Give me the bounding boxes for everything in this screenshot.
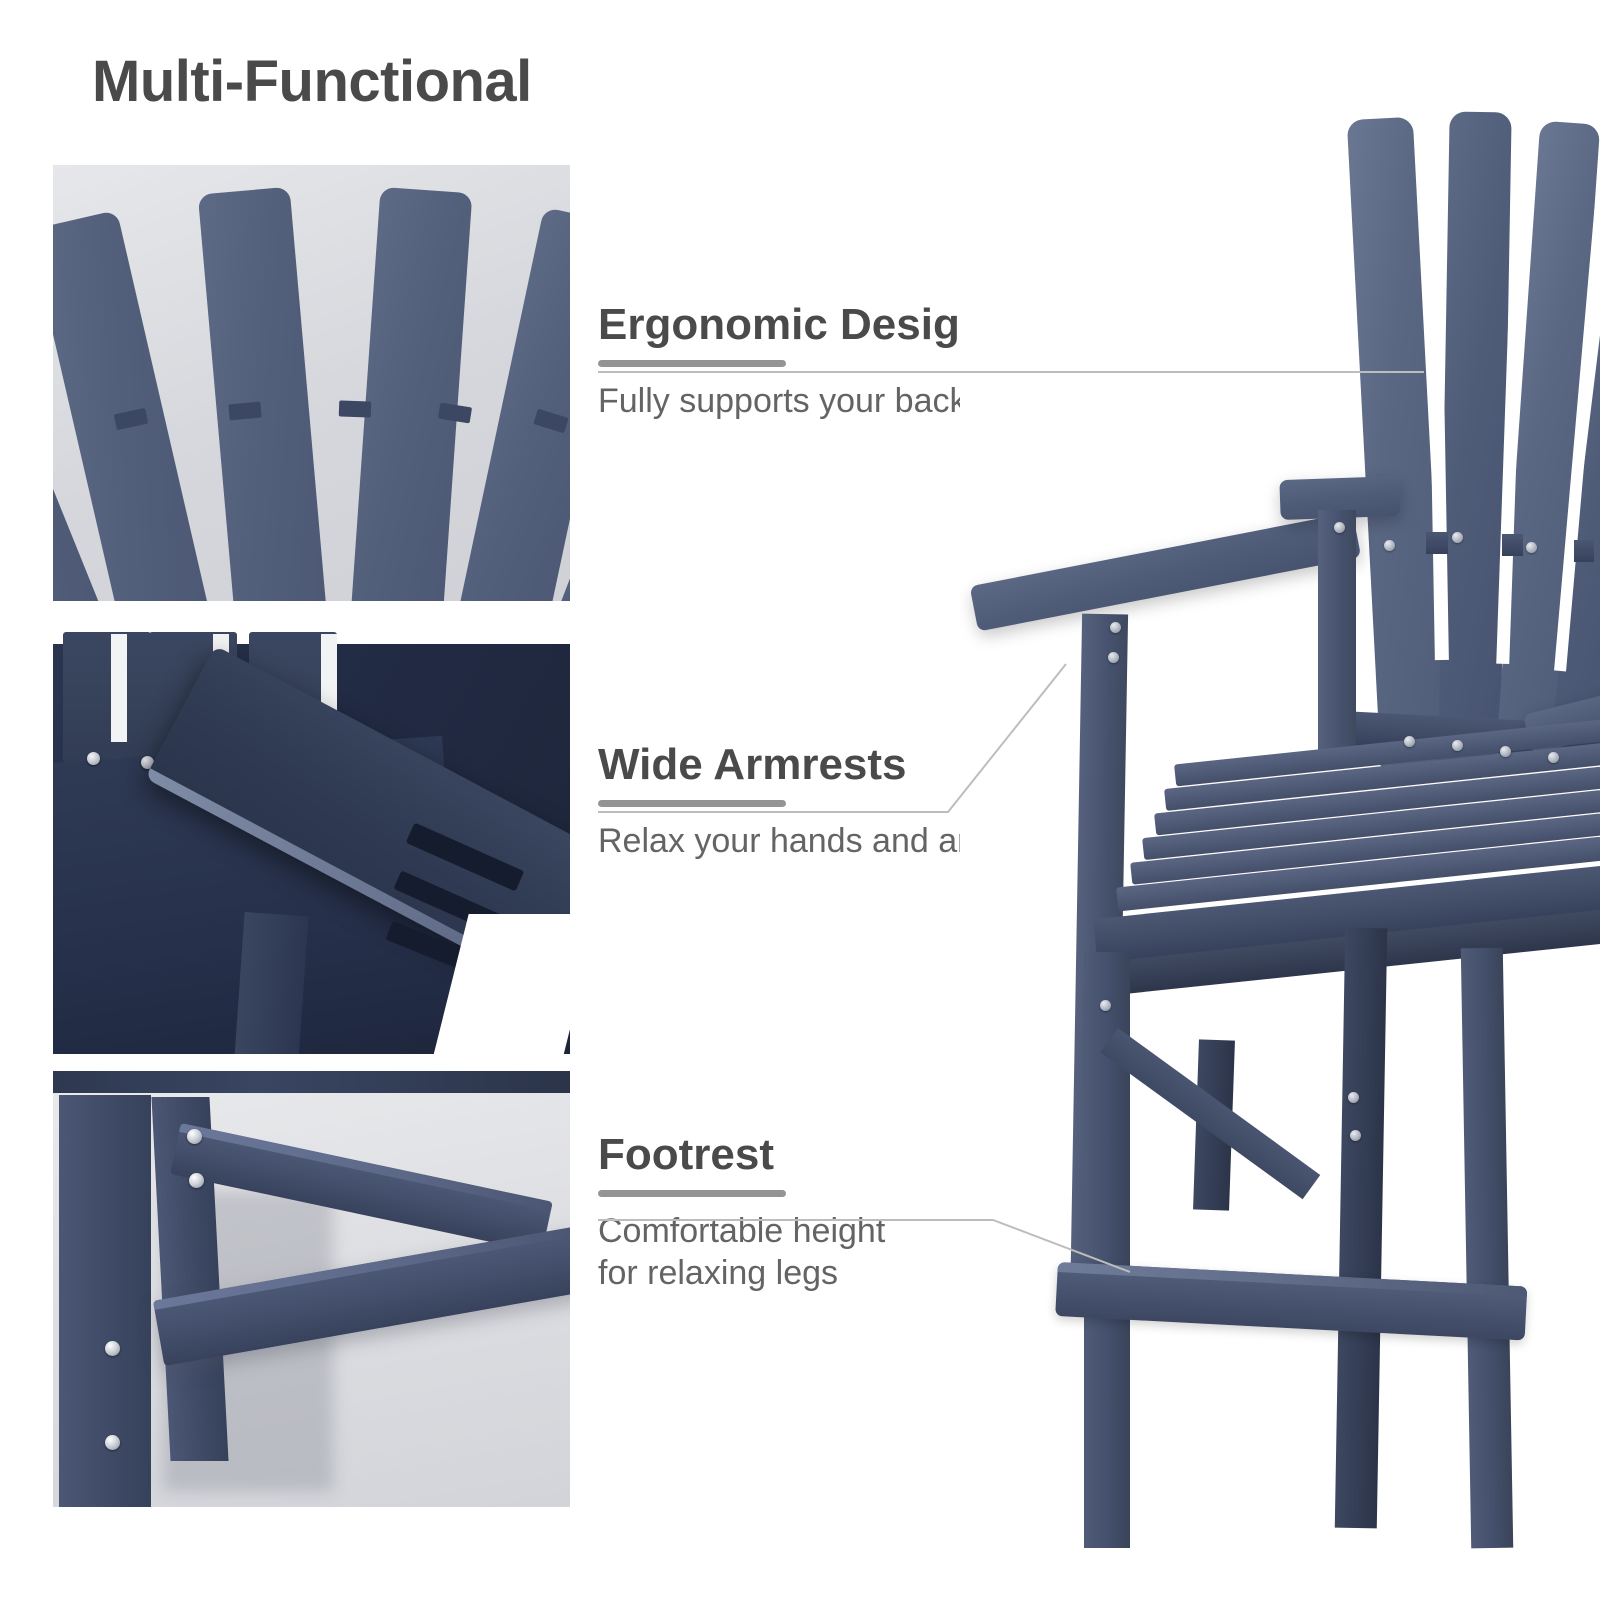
screw-head <box>105 1341 120 1356</box>
feature-block-armrests: Wide Armrests Relax your hands and arms <box>598 742 1014 863</box>
screw-head <box>1452 532 1463 543</box>
page-title: Multi-Functional <box>92 48 532 115</box>
screw-head <box>187 1129 202 1144</box>
screw-head <box>1384 540 1395 551</box>
armrest-image <box>53 618 570 1054</box>
screw-head <box>1108 652 1119 663</box>
feature-subtitle: Fully supports your back <box>598 381 987 422</box>
screw-head <box>1452 740 1463 751</box>
screw-head <box>1350 1130 1361 1141</box>
feature-block-ergonomic: Ergonomic Design Fully supports your bac… <box>598 302 987 423</box>
backrest-slat <box>63 632 151 762</box>
screw-head <box>1334 522 1345 533</box>
backrest-slat <box>1438 112 1511 763</box>
feature-block-footrest: Footrest Comfortable height for relaxing… <box>598 1132 885 1294</box>
screw-head <box>1548 752 1559 763</box>
feature-title: Footrest <box>598 1132 885 1178</box>
thumbnail-fan-backrest[interactable] <box>53 165 570 601</box>
backrest-cross-rail <box>1502 534 1523 556</box>
chair-leg-rear-left <box>1335 928 1387 1529</box>
screw-head <box>1348 1092 1359 1103</box>
feature-subtitle: Relax your hands and arms <box>598 821 1014 862</box>
backrest-cross-rail <box>1426 532 1448 554</box>
screw-head <box>1526 542 1537 553</box>
slat-gap <box>111 634 127 742</box>
thumbnail-footrest[interactable] <box>53 1071 570 1507</box>
photo-top-strip <box>53 1071 570 1093</box>
screw-head <box>105 1435 120 1450</box>
screw-head <box>189 1173 204 1188</box>
backrest-cross-rail <box>339 400 372 417</box>
armrest-rear-post <box>1318 510 1356 760</box>
thumbnail-armrest[interactable] <box>53 618 570 1054</box>
screw-head <box>1404 736 1415 747</box>
infographic-page: Multi-Functional <box>0 0 1600 1600</box>
screw-head <box>87 752 100 765</box>
screw-head <box>1110 622 1121 633</box>
feature-underline-rule <box>598 1190 786 1197</box>
feature-underline-rule <box>598 800 786 807</box>
feature-underline-rule <box>598 360 786 367</box>
armrest-support-post <box>233 912 308 1054</box>
fan-backrest-image <box>53 165 570 601</box>
chair-leg-front-right <box>1461 948 1513 1549</box>
feature-title: Wide Armrests <box>598 742 1014 788</box>
footrest-rail-highlight <box>1057 1262 1527 1297</box>
product-photo-main <box>960 0 1600 1600</box>
feature-subtitle: Comfortable height for relaxing legs <box>598 1211 885 1294</box>
feature-title: Ergonomic Design <box>598 302 987 348</box>
screw-head <box>1100 1000 1111 1011</box>
armrest-left <box>970 512 1362 632</box>
backrest-cross-rail <box>1574 540 1594 562</box>
screw-head <box>1500 746 1511 757</box>
backrest-cross-rail <box>228 402 261 421</box>
footrest-image <box>53 1071 570 1507</box>
